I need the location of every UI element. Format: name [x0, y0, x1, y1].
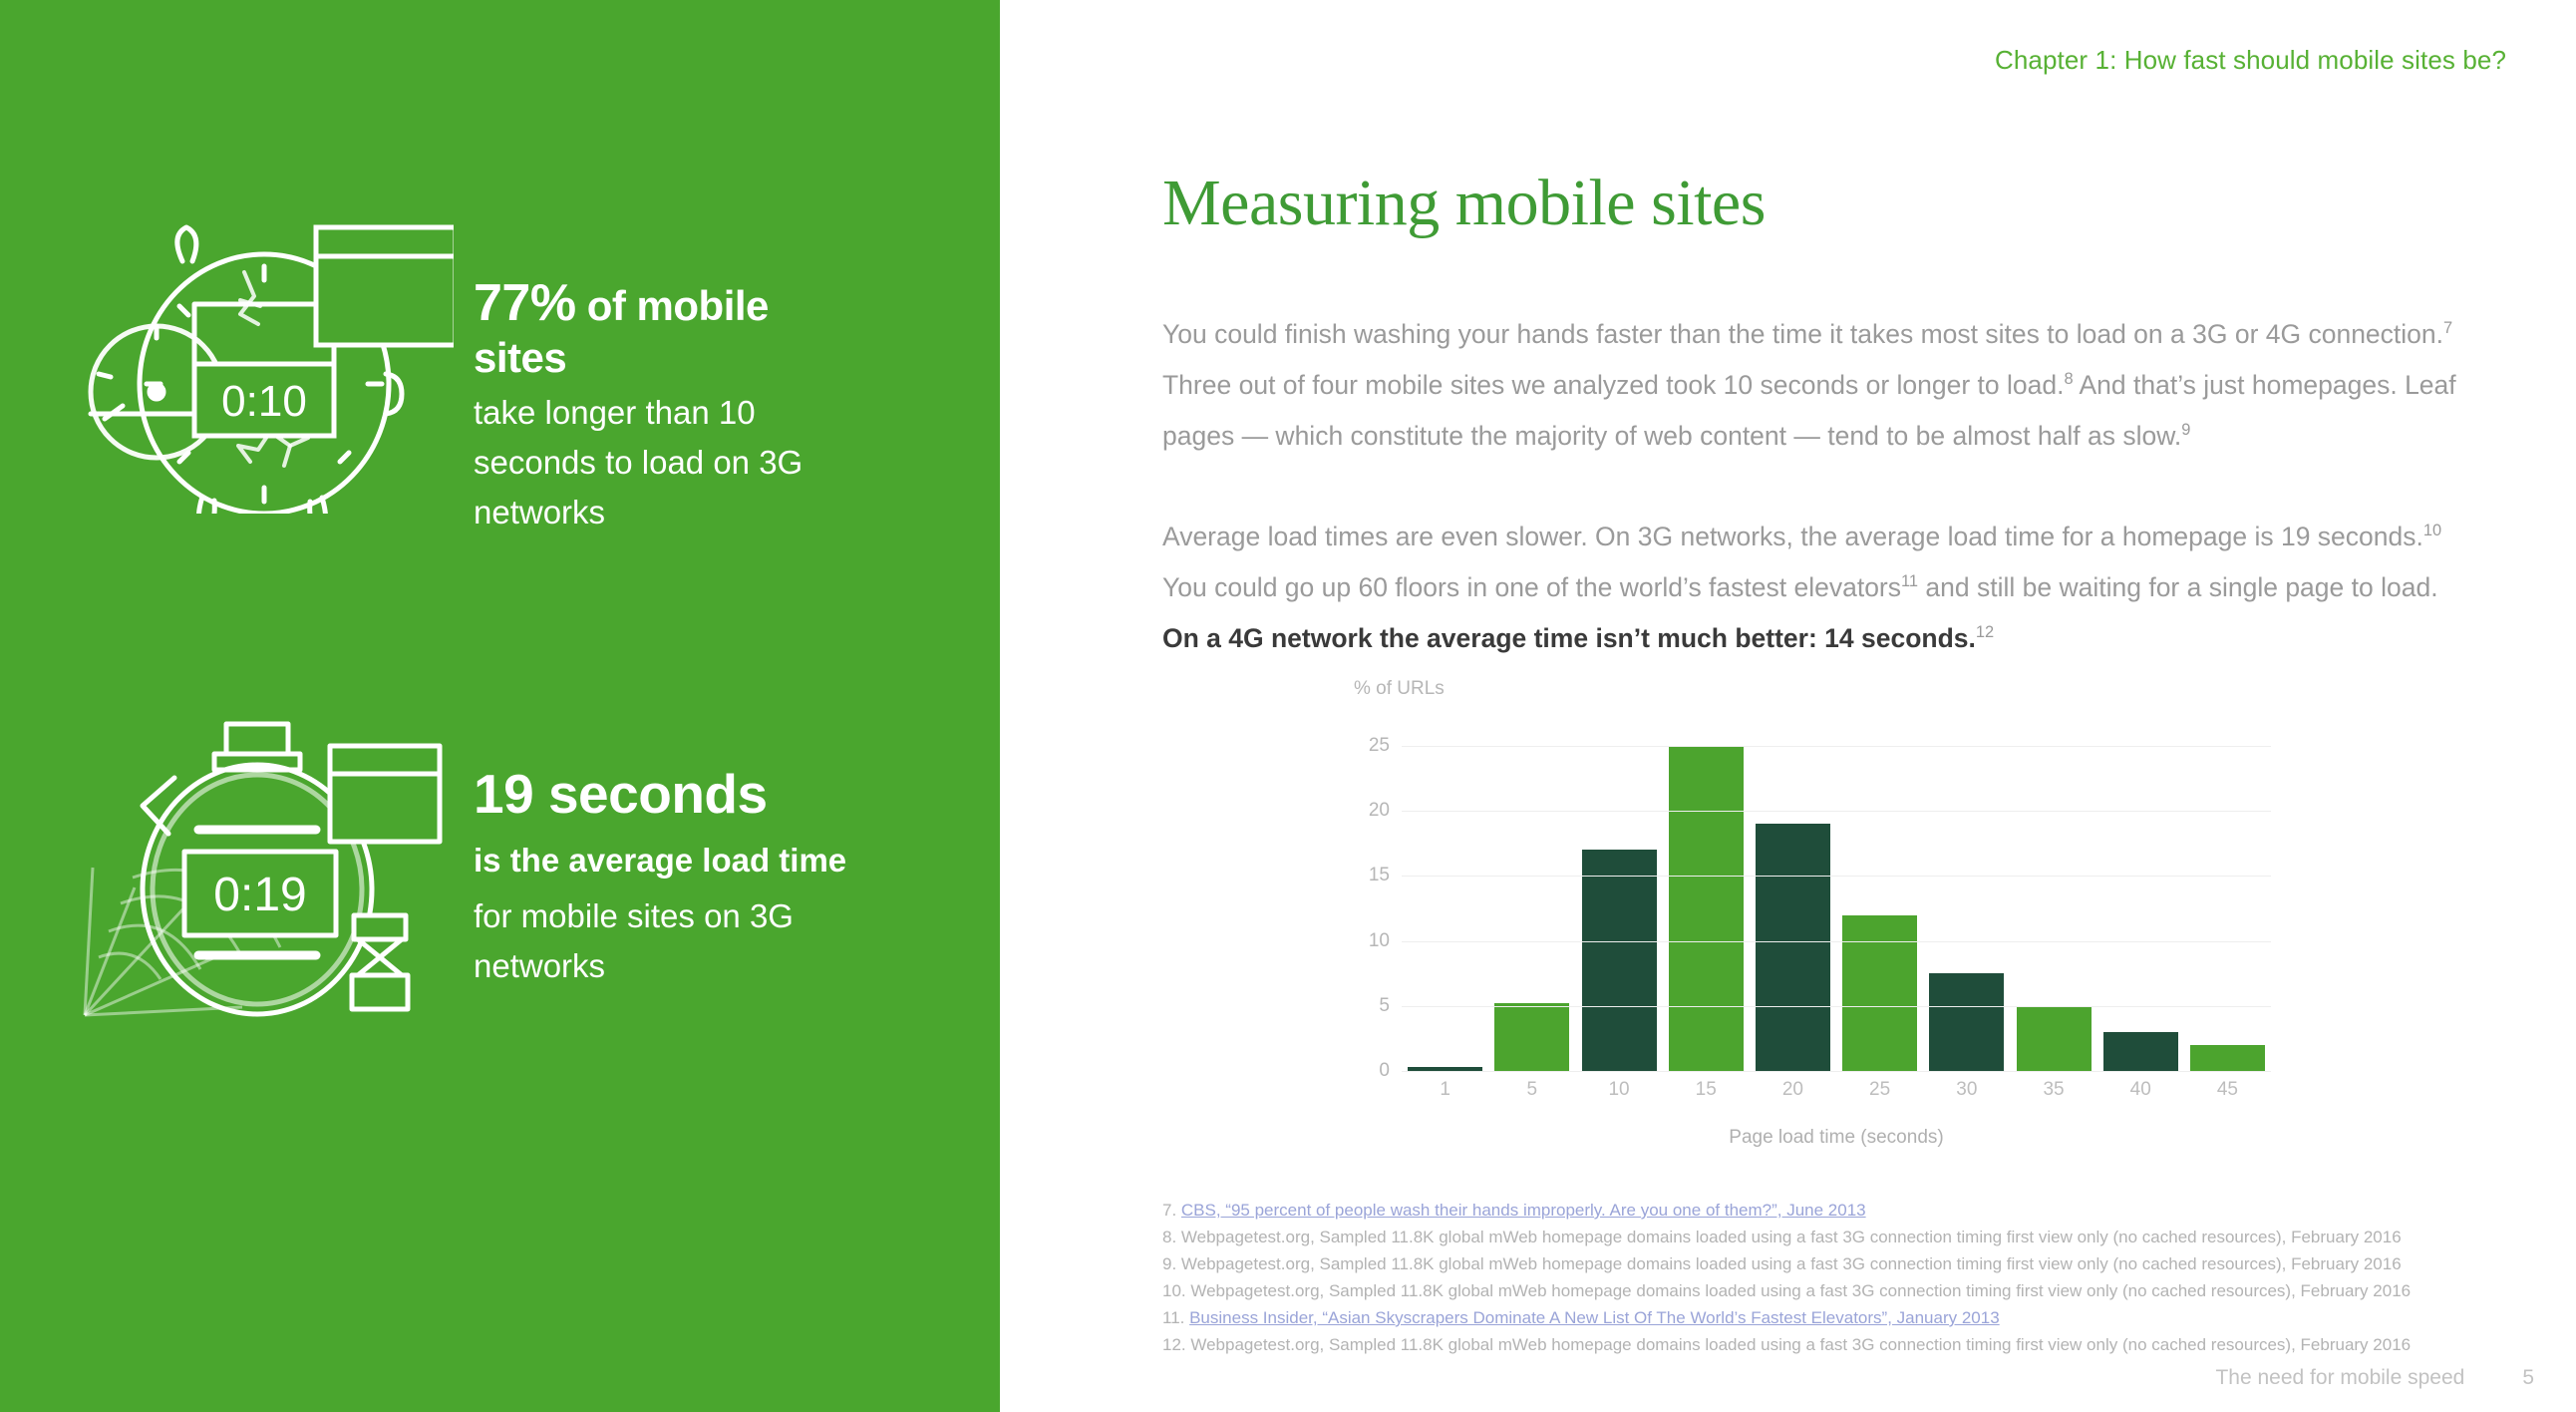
stat-headline-2: 19 seconds: [474, 763, 872, 826]
footnote-number: 8.: [1162, 1228, 1181, 1246]
left-stats-panel: 0:10 77% of mobile sites take longer tha…: [0, 0, 1000, 1412]
stat-text-1: 77% of mobile sites take longer than 10 …: [474, 214, 872, 538]
footnote-text: Webpagetest.org, Sampled 11.8K global mW…: [1190, 1281, 2411, 1300]
chart-gridline: 10: [1402, 941, 2271, 942]
cracked-alarm-clock-icon: 0:10: [75, 214, 454, 514]
chart-gridline: 25: [1402, 746, 2271, 747]
footnote-ref-11[interactable]: 11: [1901, 572, 1918, 590]
chart-y-axis-label: % of URLs: [1354, 678, 1445, 700]
footer-doc-title: The need for mobile speed: [2215, 1366, 2464, 1390]
page-number: 5: [2522, 1366, 2534, 1390]
paragraph-1: You could finish washing your hands fast…: [1162, 309, 2478, 462]
footnote-ref-9[interactable]: 9: [2181, 421, 2190, 439]
chart-bar-slot: [1402, 720, 1488, 1071]
stat-text-2: 19 seconds is the average load time for …: [474, 718, 872, 991]
chart-y-tick-label: 0: [1379, 1060, 1390, 1082]
chart-bar-slot: [1750, 720, 1836, 1071]
chart-bar: [1582, 850, 1657, 1071]
p2-bold-statement: On a 4G network the average time isn’t m…: [1162, 623, 1976, 653]
p2-part-c: and still be waiting for a single page t…: [1918, 572, 2438, 602]
footnote-item: 11. Business Insider, “Asian Skyscrapers…: [1162, 1304, 2488, 1331]
stat-sub-1: take longer than 10 seconds to load on 3…: [474, 388, 872, 537]
chart-bar-slot: [1923, 720, 2010, 1071]
chart-bar: [1494, 1003, 1569, 1071]
chart-x-tick-label: 30: [1923, 1079, 2010, 1101]
footnote-item: 8. Webpagetest.org, Sampled 11.8K global…: [1162, 1224, 2488, 1250]
footnotes-list: 7. CBS, “95 percent of people wash their…: [1162, 1197, 2488, 1358]
footnote-text: Webpagetest.org, Sampled 11.8K global mW…: [1181, 1254, 2402, 1273]
document-content-panel: Chapter 1: How fast should mobile sites …: [1000, 0, 2576, 1412]
chart-x-tick-label: 5: [1488, 1079, 1575, 1101]
page-title: Measuring mobile sites: [1162, 166, 1766, 241]
chart-x-tick-label: 1: [1402, 1079, 1488, 1101]
chart-x-axis-ticks: 151015202530354045: [1402, 1079, 2271, 1101]
chart-bar-slot: [1836, 720, 1923, 1071]
cobweb-stopwatch-icon: 0:19: [75, 718, 454, 1017]
footnote-number: 9.: [1162, 1254, 1181, 1273]
chart-gridline: 20: [1402, 811, 2271, 812]
chart-x-tick-label: 40: [2097, 1079, 2184, 1101]
chart-x-tick-label: 10: [1575, 1079, 1662, 1101]
footnote-item: 10. Webpagetest.org, Sampled 11.8K globa…: [1162, 1277, 2488, 1304]
chart-gridline: 5: [1402, 1006, 2271, 1007]
chart-x-axis-label: Page load time (seconds): [1402, 1127, 2271, 1149]
chart-bar-slot: [1488, 720, 1575, 1071]
chart-bar: [1669, 746, 1744, 1071]
footnote-item: 7. CBS, “95 percent of people wash their…: [1162, 1197, 2488, 1224]
chapter-label: Chapter 1: How fast should mobile sites …: [1995, 45, 2506, 76]
footnote-ref-8[interactable]: 8: [2064, 370, 2073, 388]
chart-gridline: 0: [1402, 1071, 2271, 1072]
chart-x-tick-label: 15: [1663, 1079, 1750, 1101]
stat-block-77-percent: 0:10 77% of mobile sites take longer tha…: [75, 214, 872, 538]
chart-bar-slot: [2184, 720, 2271, 1071]
footnote-link[interactable]: CBS, “95 percent of people wash their ha…: [1181, 1201, 1866, 1220]
footnote-text: Webpagetest.org, Sampled 11.8K global mW…: [1190, 1335, 2411, 1354]
p1-part-a: You could finish washing your hands fast…: [1162, 319, 2443, 349]
chart-y-tick-label: 5: [1379, 995, 1390, 1017]
page-footer: The need for mobile speed 5: [2215, 1366, 2534, 1390]
chart-bar: [1756, 824, 1830, 1071]
chart-bar: [2103, 1032, 2178, 1071]
chart-x-tick-label: 35: [2010, 1079, 2096, 1101]
chart-x-tick-label: 45: [2184, 1079, 2271, 1101]
chart-y-tick-label: 10: [1369, 930, 1390, 952]
footnote-item: 9. Webpagetest.org, Sampled 11.8K global…: [1162, 1250, 2488, 1277]
chart-bar-slot: [2010, 720, 2096, 1071]
stat-lead-2: is the average load time: [474, 836, 872, 885]
chart-bars-group: [1402, 720, 2271, 1071]
footnote-text: Webpagetest.org, Sampled 11.8K global mW…: [1181, 1228, 2402, 1246]
chart-bar-slot: [1663, 720, 1750, 1071]
footnote-item: 12. Webpagetest.org, Sampled 11.8K globa…: [1162, 1331, 2488, 1358]
chart-y-tick-label: 15: [1369, 865, 1390, 886]
chart-bar-slot: [2097, 720, 2184, 1071]
chart-bar-slot: [1575, 720, 1662, 1071]
document-page: 0:10 77% of mobile sites take longer tha…: [0, 0, 2576, 1412]
paragraph-2: Average load times are even slower. On 3…: [1162, 512, 2478, 664]
stat-headline-1: 77% of mobile sites: [474, 274, 872, 382]
clock-display-value-1: 0:10: [221, 377, 307, 426]
chart-bar: [2190, 1045, 2265, 1071]
page-load-time-bar-chart: % of URLs 0510152025 151015202530354045 …: [1354, 678, 2271, 1167]
chart-gridline: 15: [1402, 876, 2271, 877]
footnote-ref-10[interactable]: 10: [2423, 522, 2441, 539]
footnote-ref-7[interactable]: 7: [2443, 319, 2452, 337]
p2-part-a: Average load times are even slower. On 3…: [1162, 522, 2423, 551]
p2-part-b: You could go up 60 floors in one of the …: [1162, 572, 1901, 602]
footnote-number: 10.: [1162, 1281, 1190, 1300]
chart-bar: [2017, 1006, 2092, 1071]
footnote-number: 7.: [1162, 1201, 1181, 1220]
p1-part-b: Three out of four mobile sites we analyz…: [1162, 370, 2064, 400]
chart-bar: [1929, 973, 2004, 1071]
footnote-number: 11.: [1162, 1308, 1189, 1327]
footnote-link[interactable]: Business Insider, “Asian Skyscrapers Dom…: [1189, 1308, 2000, 1327]
stat-block-19-seconds: 0:19 19 seconds is the average load time…: [75, 718, 872, 1017]
chart-plot-area: 0510152025: [1402, 720, 2271, 1071]
clock-display-value-2: 0:19: [213, 869, 306, 921]
chart-x-tick-label: 20: [1750, 1079, 1836, 1101]
chart-bar: [1842, 915, 1917, 1071]
chart-y-tick-label: 25: [1369, 735, 1390, 757]
chart-x-tick-label: 25: [1836, 1079, 1923, 1101]
chart-y-tick-label: 20: [1369, 800, 1390, 822]
stat-number-1: 77%: [474, 274, 576, 332]
stat-sub-2: for mobile sites on 3G networks: [474, 891, 872, 991]
footnote-ref-12[interactable]: 12: [1976, 623, 1994, 641]
footnote-number: 12.: [1162, 1335, 1190, 1354]
